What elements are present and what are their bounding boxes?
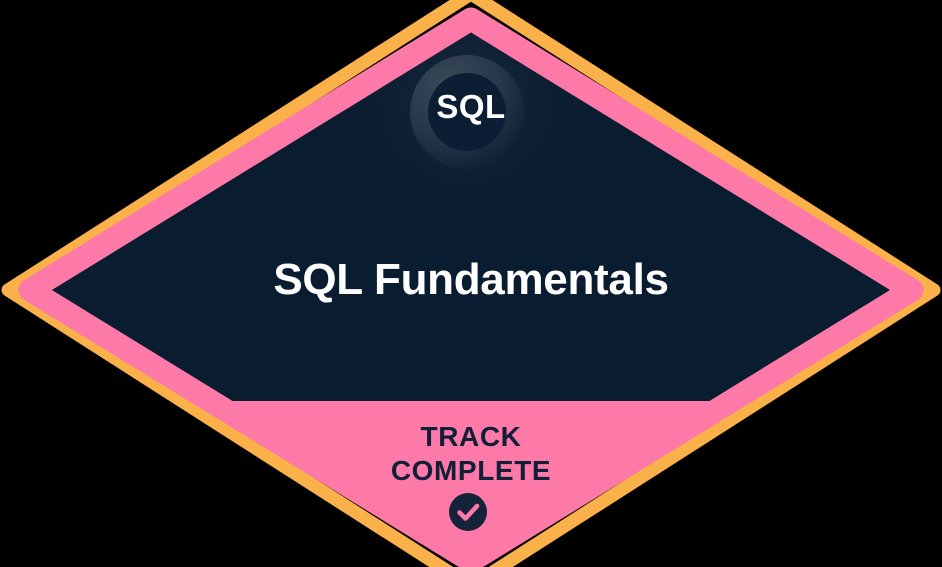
badge-artwork	[0, 0, 942, 567]
check-circle-icon	[449, 493, 487, 531]
track-badge-card: SQL SQL Fundamentals TRACK COMPLETE	[0, 0, 942, 567]
sql-chip-icon	[410, 55, 524, 169]
